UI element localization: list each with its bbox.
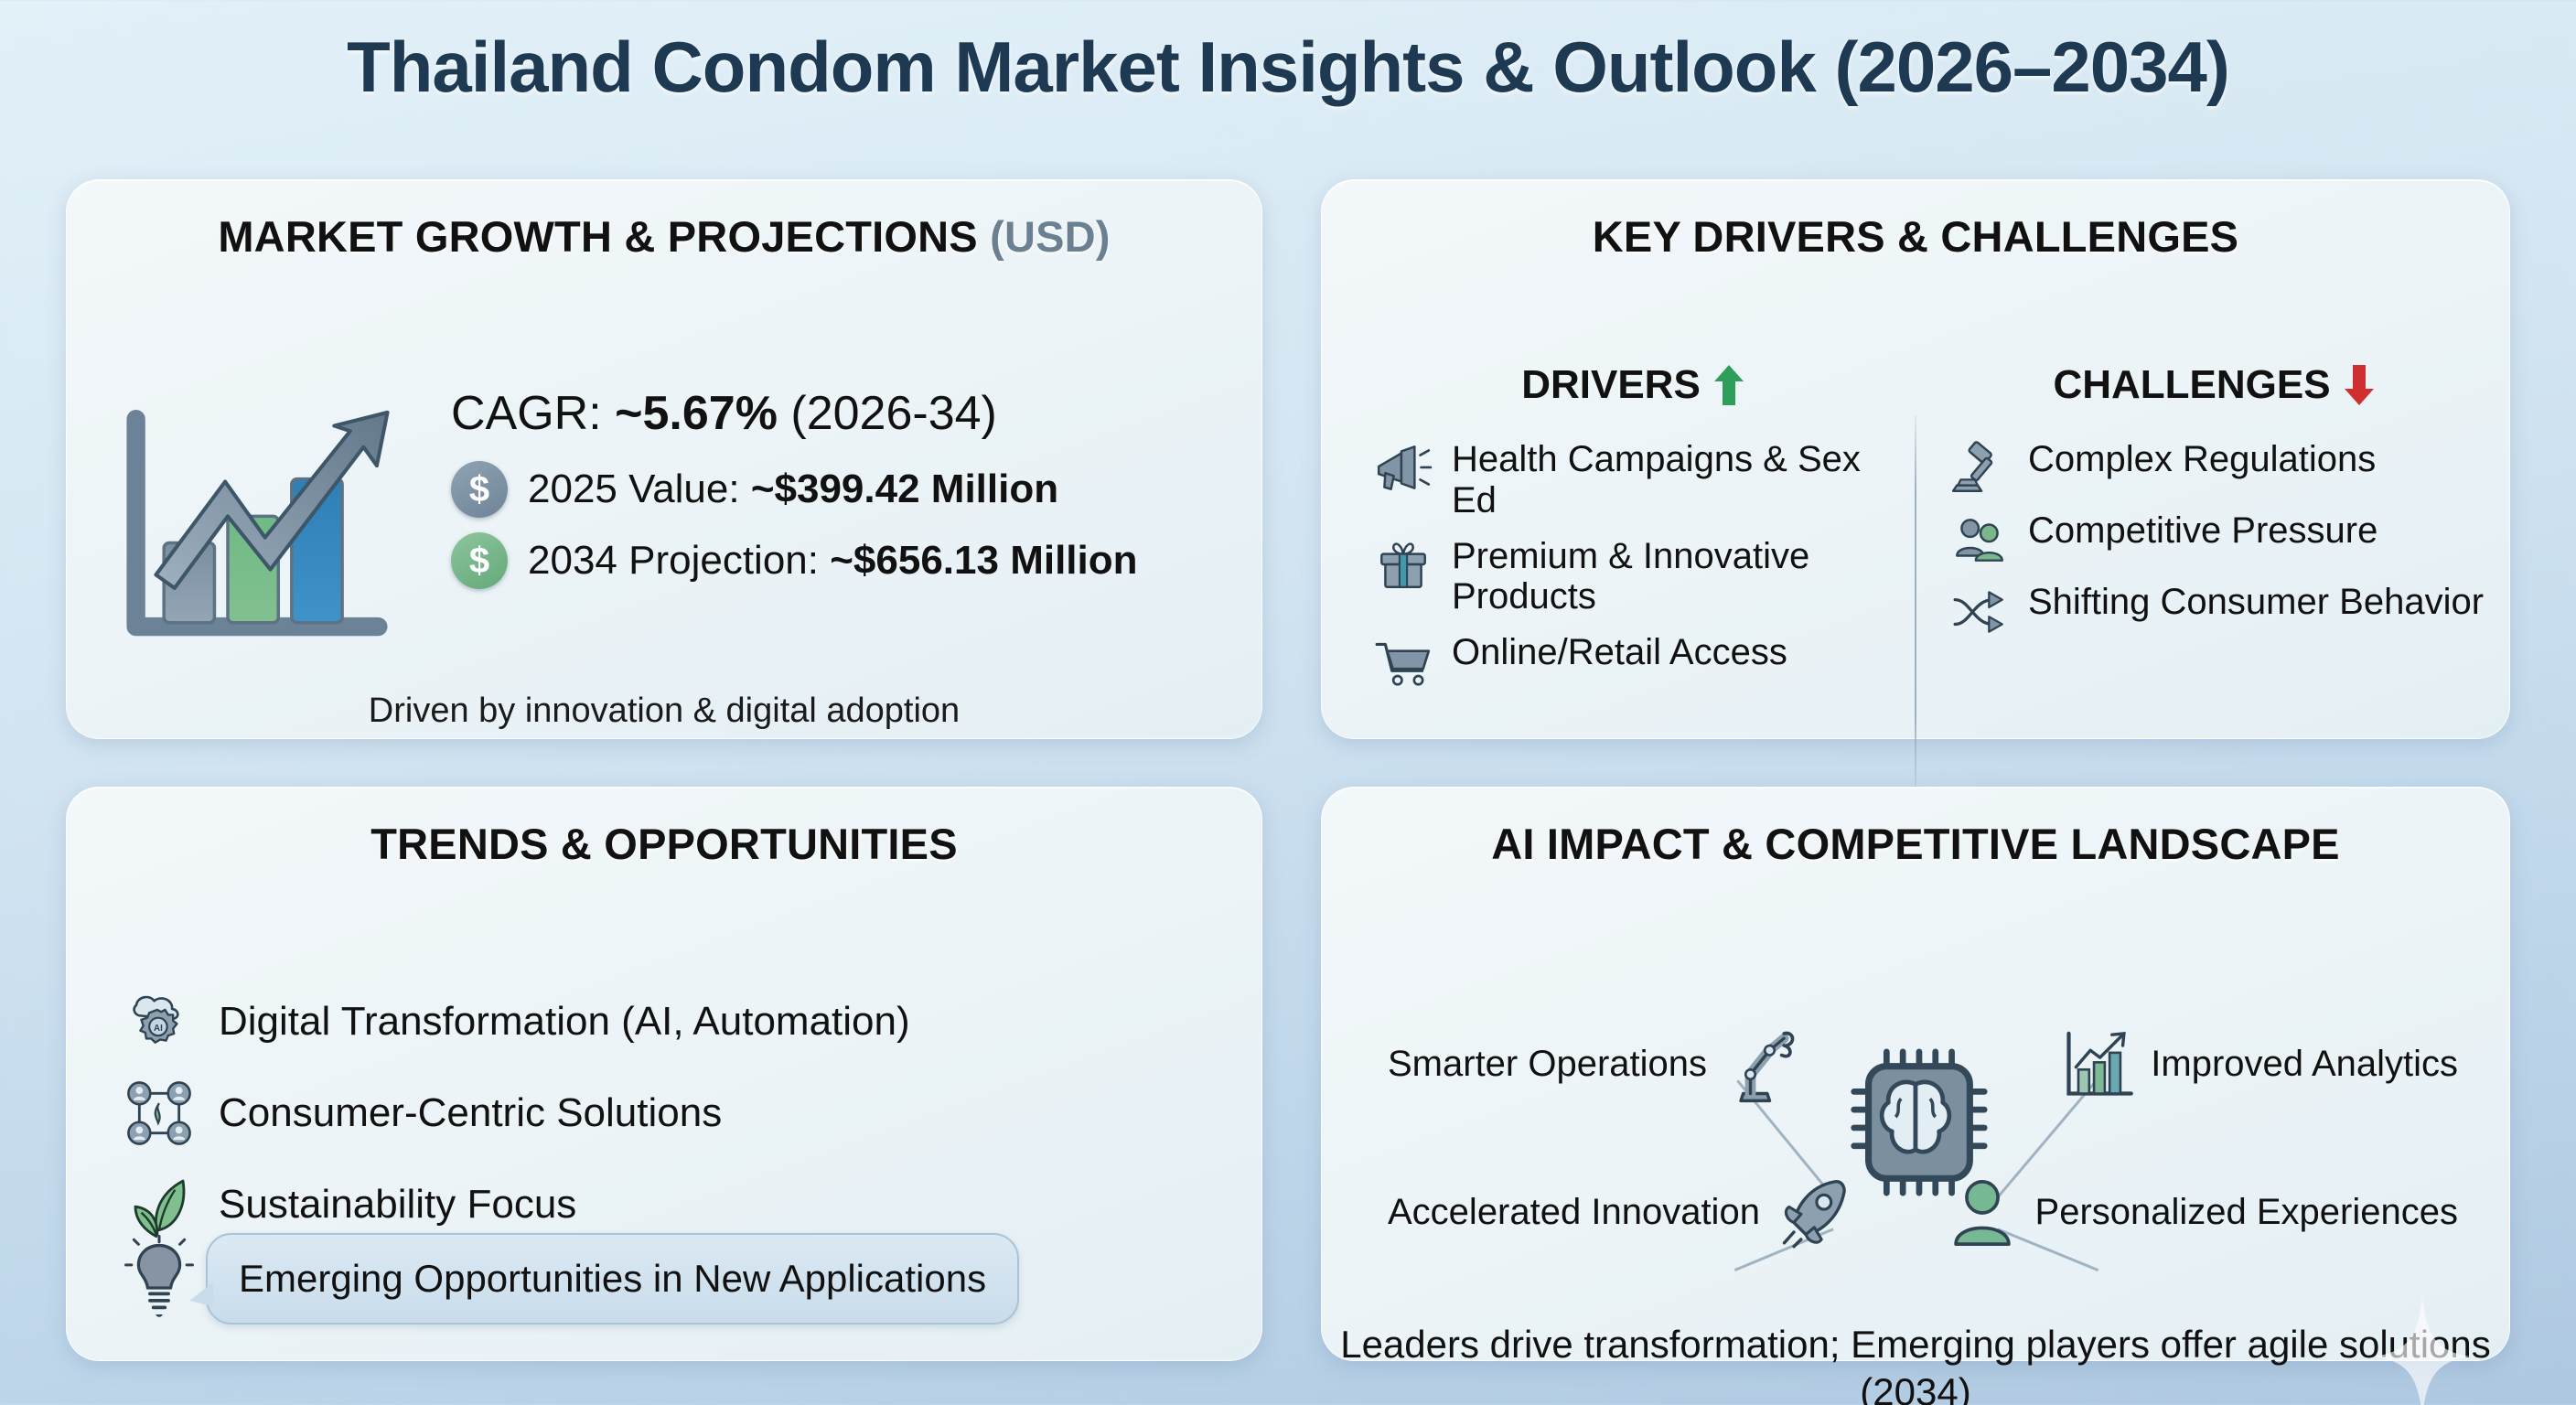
emerging-opportunities-row: Emerging Opportunities in New Applicatio… (123, 1233, 1019, 1325)
gavel-icon (1949, 441, 2010, 496)
ai-node-label: Accelerated Innovation (1388, 1192, 1760, 1234)
shopping-cart-icon (1373, 634, 1433, 689)
challenge-item-label: Complex Regulations (2028, 439, 2376, 480)
dollar-icon: $ (451, 532, 508, 589)
drivers-heading: DRIVERS (1358, 362, 1907, 408)
market-value-2025-text: 2025 Value: ~$399.42 Million (528, 467, 1058, 512)
megaphone-icon (1373, 441, 1433, 496)
ai-node-label: Improved Analytics (2151, 1044, 2458, 1086)
cagr-label: CAGR: (451, 387, 615, 440)
challenge-item: Shifting Consumer Behavior (1949, 582, 2493, 638)
trend-item-label: Consumer-Centric Solutions (219, 1090, 722, 1136)
shuffle-arrows-icon (1949, 584, 2010, 638)
bar-chart-up-icon (2059, 1026, 2136, 1103)
robot-arm-icon (1722, 1026, 1798, 1103)
trends-list: AI Digital Transformation (AI, Automatio… (67, 986, 1261, 1260)
market-card-title: MARKET GROWTH & PROJECTIONS (USD) (67, 180, 1261, 262)
market-value-2034-value: ~$656.13 Million (830, 538, 1137, 583)
ai-node-smarter-operations: Smarter Operations (1388, 1026, 1798, 1103)
challenges-heading-label: CHALLENGES (2053, 362, 2330, 408)
page-title: Thailand Condom Market Insights & Outloo… (0, 26, 2576, 109)
drivers-card-title: KEY DRIVERS & CHALLENGES (1322, 180, 2509, 262)
challenge-item: Competitive Pressure (1949, 510, 2493, 567)
rocket-icon (1775, 1174, 1851, 1251)
drivers-column: DRIVERS Health Campaigns & Sex Ed (1358, 362, 1907, 703)
sparkle-icon (2372, 1297, 2473, 1405)
trend-item: AI Digital Transformation (AI, Automatio… (67, 986, 1261, 1057)
trend-item: Consumer-Centric Solutions (67, 1078, 1261, 1149)
ai-node-label: Personalized Experiences (2035, 1192, 2458, 1234)
market-value-row-2025: $ 2025 Value: ~$399.42 Million (451, 461, 1238, 518)
cagr-value: ~5.67% (615, 387, 778, 440)
market-growth-card: MARKET GROWTH & PROJECTIONS (USD) (66, 179, 1262, 739)
driver-item-label: Online/Retail Access (1452, 632, 1787, 673)
ai-node-accelerated-innovation: Accelerated Innovation (1388, 1174, 1851, 1251)
cagr-row: CAGR: ~5.67% (2026-34) (451, 386, 1238, 441)
trend-item-label: Digital Transformation (AI, Automation) (219, 999, 910, 1045)
ai-node-improved-analytics: Improved Analytics (2059, 1026, 2458, 1103)
dollar-icon: $ (451, 461, 508, 518)
leaf-icon (123, 1169, 195, 1240)
trends-card-title: TRENDS & OPPORTUNITIES (67, 788, 1261, 869)
trends-opportunities-card: TRENDS & OPPORTUNITIES AI Digital Transf… (66, 787, 1262, 1361)
market-value-2034-label: 2034 Projection: (528, 538, 830, 583)
trends-card-body: AI Digital Transformation (AI, Automatio… (67, 869, 1261, 1405)
ai-caption: Leaders drive transformation; Emerging p… (1322, 1321, 2509, 1405)
growth-bar-chart-arrow-icon (111, 390, 403, 664)
trend-item-label: Sustainability Focus (219, 1182, 576, 1228)
cagr-period: (2026-34) (778, 387, 997, 440)
market-caption: Driven by innovation & digital adoption (67, 692, 1261, 731)
market-stats: CAGR: ~5.67% (2026-34) $ 2025 Value: ~$3… (451, 386, 1238, 604)
person-icon (1944, 1174, 2021, 1251)
people-network-icon (123, 1078, 195, 1149)
lightbulb-icon (123, 1234, 195, 1324)
market-card-title-usd: (USD) (990, 212, 1111, 261)
market-value-row-2034: $ 2034 Projection: ~$656.13 Million (451, 532, 1238, 589)
challenges-list: Complex Regulations Competitive Pressure (1935, 439, 2493, 638)
market-value-2025-value: ~$399.42 Million (751, 467, 1058, 511)
arrow-down-icon (2344, 364, 2375, 406)
driver-item: Online/Retail Access (1373, 632, 1907, 689)
challenge-item: Complex Regulations (1949, 439, 2493, 496)
challenge-item-label: Competitive Pressure (2028, 510, 2377, 552)
driver-item-label: Health Campaigns & Sex Ed (1452, 439, 1907, 521)
gift-icon (1373, 538, 1433, 593)
svg-text:AI: AI (154, 1024, 163, 1034)
drivers-card-body: DRIVERS Health Campaigns & Sex Ed (1322, 262, 2509, 820)
people-group-icon (1949, 512, 2010, 567)
ai-card-body: Smarter Operations Improved A (1322, 869, 2509, 1405)
driver-item-label: Premium & Innovative Products (1452, 536, 1907, 618)
ai-node-label: Smarter Operations (1388, 1044, 1707, 1086)
challenges-heading: CHALLENGES (1935, 362, 2493, 408)
ai-card-title: AI IMPACT & COMPETITIVE LANDSCAPE (1322, 788, 2509, 869)
drivers-heading-label: DRIVERS (1521, 362, 1701, 408)
trend-item: Sustainability Focus (67, 1169, 1261, 1240)
challenge-item-label: Shifting Consumer Behavior (2028, 582, 2484, 623)
driver-item: Premium & Innovative Products (1373, 536, 1907, 618)
arrow-up-icon (1713, 364, 1744, 406)
cloud-gear-ai-icon: AI (123, 986, 195, 1057)
market-card-title-text: MARKET GROWTH & PROJECTIONS (218, 212, 990, 261)
market-value-2025-label: 2025 Value: (528, 467, 751, 511)
driver-item: Health Campaigns & Sex Ed (1373, 439, 1907, 521)
emerging-opportunities-callout: Emerging Opportunities in New Applicatio… (206, 1233, 1019, 1325)
challenges-column: CHALLENGES Complex Regulations (1935, 362, 2493, 653)
key-drivers-challenges-card: KEY DRIVERS & CHALLENGES DRIVERS (1321, 179, 2510, 739)
vertical-divider (1915, 415, 1916, 792)
drivers-list: Health Campaigns & Sex Ed Premium & Inno… (1358, 439, 1907, 689)
market-value-2034-text: 2034 Projection: ~$656.13 Million (528, 538, 1138, 584)
ai-impact-card: AI IMPACT & COMPETITIVE LANDSCAPE (1321, 787, 2510, 1361)
market-card-body: CAGR: ~5.67% (2026-34) $ 2025 Value: ~$3… (67, 262, 1261, 820)
ai-node-personalized-experiences: Personalized Experiences (1944, 1174, 2458, 1251)
